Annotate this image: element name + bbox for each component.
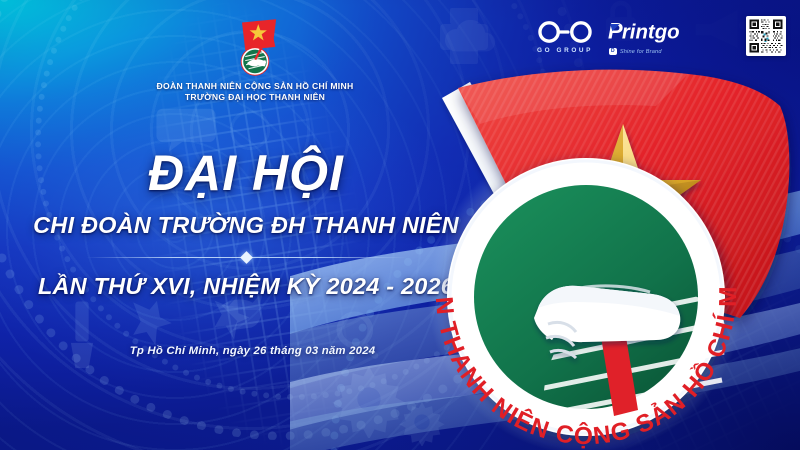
printgo-tagline-row: D Shine for Brand xyxy=(609,48,662,55)
youth-union-emblem-icon xyxy=(229,14,281,78)
org-line-2: TRƯỜNG ĐẠI HỌC THANH NIÊN xyxy=(110,92,400,103)
organization-header: ĐOÀN THANH NIÊN CỘNG SẢN HỒ CHÍ MINH TRƯ… xyxy=(110,14,400,104)
svg-text:rintgo: rintgo xyxy=(622,22,680,44)
qr-code-icon[interactable] xyxy=(746,16,786,56)
go-group-logo[interactable]: GO GROUP xyxy=(536,19,594,54)
divider xyxy=(86,253,406,262)
svg-text:P: P xyxy=(608,19,623,44)
partner-logos: GO GROUP P rintgo D Shine for Brand xyxy=(536,16,786,56)
go-group-label: GO GROUP xyxy=(537,47,593,54)
youth-union-large-emblem-icon: ĐOÀN THANH NIÊN CỘNG SẢN HỒ CHÍ MINH xyxy=(388,62,800,450)
printgo-logo[interactable]: P rintgo D Shine for Brand xyxy=(608,17,732,55)
printgo-badge: D xyxy=(609,48,617,55)
printgo-tagline: Shine for Brand xyxy=(620,49,662,55)
printgo-wordmark-icon: P rintgo xyxy=(608,17,732,47)
go-group-infinity-icon xyxy=(536,19,594,45)
org-line-1: ĐOÀN THANH NIÊN CỘNG SẢN HỒ CHÍ MINH xyxy=(110,81,400,92)
divider-diamond-icon xyxy=(240,251,253,264)
poster-canvas: ĐOÀN THANH NIÊN CỘNG SẢN HỒ CHÍ MINH TRƯ… xyxy=(0,0,800,450)
